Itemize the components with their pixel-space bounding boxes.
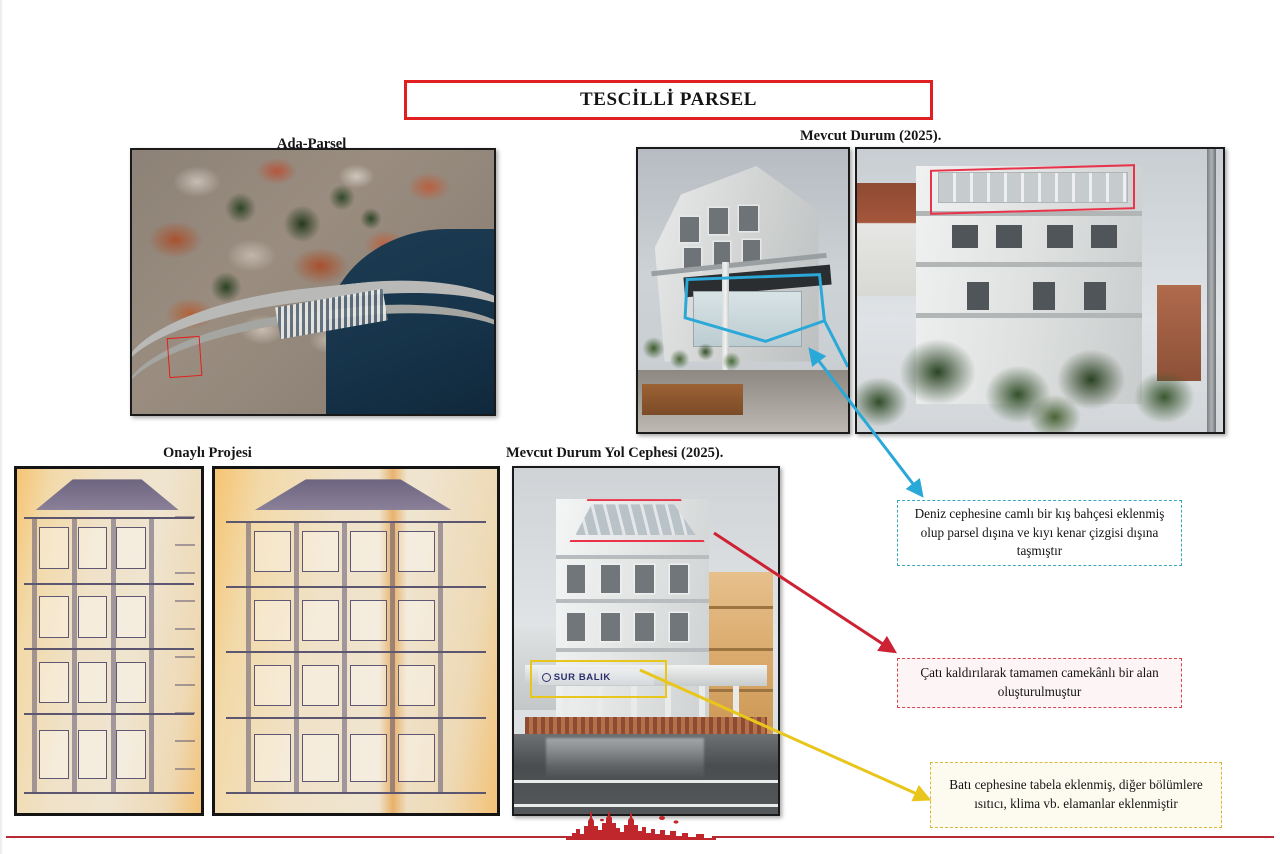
roof-balcony-band <box>916 262 1143 267</box>
street-window <box>601 565 619 593</box>
roof-window <box>1033 282 1055 310</box>
roof-photo-frame <box>855 147 1225 434</box>
aerial-parcel-outline <box>167 336 202 378</box>
sea-facade-photo <box>638 149 848 432</box>
label-onayli-projesi: Onaylı Projesi <box>163 445 252 462</box>
aerial-photo <box>132 150 494 414</box>
street-window <box>567 565 585 593</box>
roof-window <box>967 282 989 310</box>
drawing-scale-marks <box>175 490 195 793</box>
callout-west-facade: Batı cephesine tabela eklenmiş, diğer bö… <box>930 762 1222 828</box>
street-window <box>635 613 653 641</box>
roof-window <box>1091 225 1117 248</box>
roof-window <box>1084 282 1106 310</box>
street-facade-photo: SUR BALIK <box>514 468 778 814</box>
drawing-ink-right <box>215 469 497 813</box>
footer-rule-left <box>6 836 572 838</box>
skyline-logo-icon <box>566 812 716 840</box>
street-sign-annotation <box>530 660 667 698</box>
drawing-roof <box>35 479 179 510</box>
roof-glazed-enclosure-annotation <box>930 165 1135 216</box>
street-window <box>567 613 585 641</box>
roof-neighbor-building-left <box>857 183 923 296</box>
label-mevcut-durum-yol-cephesi: Mevcut Durum Yol Cephesi (2025). <box>506 445 723 462</box>
aerial-photo-frame <box>130 148 496 416</box>
street-window <box>670 565 688 593</box>
callout-west-facade-text: Batı cephesine tabela eklenmiş, diğer bö… <box>941 776 1211 813</box>
page-title: TESCİLLİ PARSEL <box>580 89 757 111</box>
slide-left-edge <box>0 0 3 854</box>
approved-project-drawing-left <box>14 466 204 816</box>
street-road-reflection <box>546 738 704 780</box>
roof-window <box>1047 225 1073 248</box>
roof-window <box>996 225 1022 248</box>
drawing-roof <box>254 479 451 510</box>
street-facade-photo-frame: SUR BALIK <box>512 466 780 816</box>
callout-sea-facade-text: Deniz cephesine camlı bir kış bahçesi ek… <box>908 505 1171 561</box>
street-terrace-fence <box>525 717 768 734</box>
footer-rule-right <box>712 836 1274 838</box>
approved-project-drawing-right <box>212 466 500 816</box>
drawing-ink-left <box>17 469 201 813</box>
street-window <box>635 565 653 593</box>
roof-window <box>952 225 978 248</box>
callout-roof: Çatı kaldırılarak tamamen camekânlı bir … <box>897 658 1182 708</box>
label-mevcut-durum: Mevcut Durum (2025). <box>800 128 941 145</box>
roof-photo <box>857 149 1223 432</box>
street-window <box>601 613 619 641</box>
callout-roof-text: Çatı kaldırılarak tamamen camekânlı bir … <box>908 664 1171 701</box>
street-window <box>670 613 688 641</box>
slide-canvas: TESCİLLİ PARSEL Ada-Parsel Mevcut Durum … <box>0 0 1280 854</box>
callout-sea-facade: Deniz cephesine camlı bir kış bahçesi ek… <box>897 500 1182 566</box>
roof-foreground-trees <box>857 307 1223 432</box>
sea-winter-garden-annotation <box>638 149 848 431</box>
slide-title-box: TESCİLLİ PARSEL <box>404 80 933 120</box>
sea-facade-photo-frame <box>636 147 850 434</box>
